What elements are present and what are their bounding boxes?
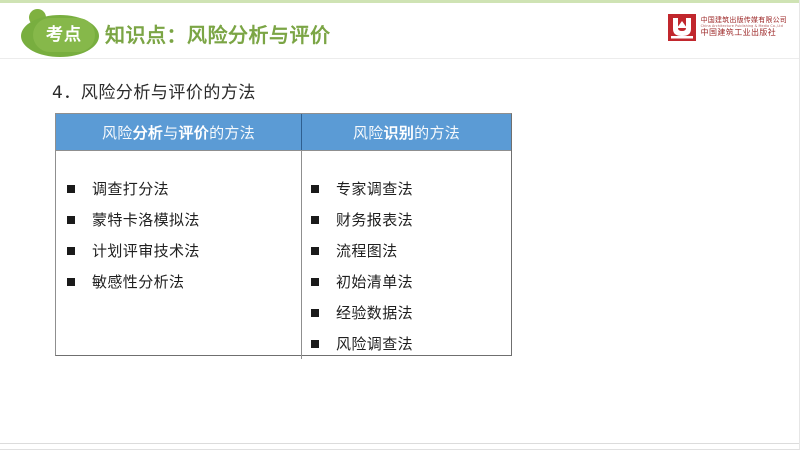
square-bullet-icon [67,185,75,193]
square-bullet-icon [67,278,75,286]
list-item: 计划评审技术法 [56,235,301,266]
badge-label: 考点 [33,18,95,52]
list-item-label: 计划评审技术法 [92,240,200,261]
header-text-run: 的方法 [414,122,460,143]
table-header-cell-analysis: 风险分析与评价的方法 [56,114,302,150]
table-cell-analysis-methods: 调查打分法蒙特卡洛模拟法计划评审技术法敏感性分析法 [56,151,302,359]
list-item-label: 财务报表法 [336,209,413,230]
table-header-row: 风险分析与评价的方法 风险识别的方法 [56,114,511,150]
list-item-label: 专家调查法 [336,178,413,199]
header-text-run: 的方法 [209,122,255,143]
list-item: 流程图法 [302,235,511,266]
square-bullet-icon [311,278,319,286]
publisher-logo-text: 中国建筑出版传媒有限公司 China Architecture Publishi… [701,17,787,37]
list-item-label: 蒙特卡洛模拟法 [92,209,200,230]
list-item-label: 敏感性分析法 [92,271,184,292]
header-text-run: 分析 [133,122,164,143]
publisher-company-cn: 中国建筑出版传媒有限公司 [701,17,787,24]
header-text-run: 识别 [384,122,415,143]
square-bullet-icon [311,216,319,224]
list-item-label: 经验数据法 [336,302,413,323]
list-item: 风险调查法 [302,328,511,359]
exam-point-badge: 考点 [21,9,99,57]
table-cell-identification-methods: 专家调查法财务报表法流程图法初始清单法经验数据法风险调查法 [302,151,511,359]
square-bullet-icon [311,340,319,348]
list-item-label: 流程图法 [336,240,398,261]
bottom-divider [0,443,800,444]
list-item: 经验数据法 [302,297,511,328]
badge-inner-pill: 考点 [33,18,95,52]
slide-header: 考点 知识点：风险分析与评价 中国建筑出版传媒有限公司 China Archit… [0,3,800,59]
square-bullet-icon [311,309,319,317]
square-bullet-icon [311,185,319,193]
square-bullet-icon [67,216,75,224]
list-item: 敏感性分析法 [56,266,301,297]
table-header-cell-identification: 风险识别的方法 [302,114,511,150]
section-subtitle: 4．风险分析与评价的方法 [52,78,256,103]
header-text-run: 风险 [102,122,133,143]
list-item: 初始清单法 [302,266,511,297]
list-item: 调查打分法 [56,173,301,204]
table-body-row: 调查打分法蒙特卡洛模拟法计划评审技术法敏感性分析法 专家调查法财务报表法流程图法… [56,150,511,359]
square-bullet-icon [311,247,319,255]
list-item: 专家调查法 [302,173,511,204]
list-item: 财务报表法 [302,204,511,235]
list-item-label: 初始清单法 [336,271,413,292]
list-item: 蒙特卡洛模拟法 [56,204,301,235]
header-text-run: 风险 [353,122,384,143]
publisher-emblem-icon [668,14,696,41]
square-bullet-icon [67,247,75,255]
publisher-logo: 中国建筑出版传媒有限公司 China Architecture Publishi… [668,10,787,44]
header-divider [0,58,800,59]
slide-canvas: 考点 知识点：风险分析与评价 中国建筑出版传媒有限公司 China Archit… [0,0,800,450]
header-text-run: 与 [163,122,178,143]
publisher-imprint-cn: 中国建筑工业出版社 [701,29,787,37]
list-item-label: 调查打分法 [92,178,169,199]
methods-table: 风险分析与评价的方法 风险识别的方法 调查打分法蒙特卡洛模拟法计划评审技术法敏感… [55,113,512,356]
list-item-label: 风险调查法 [336,333,413,354]
header-text-run: 评价 [179,122,210,143]
page-title: 知识点：风险分析与评价 [105,19,331,48]
